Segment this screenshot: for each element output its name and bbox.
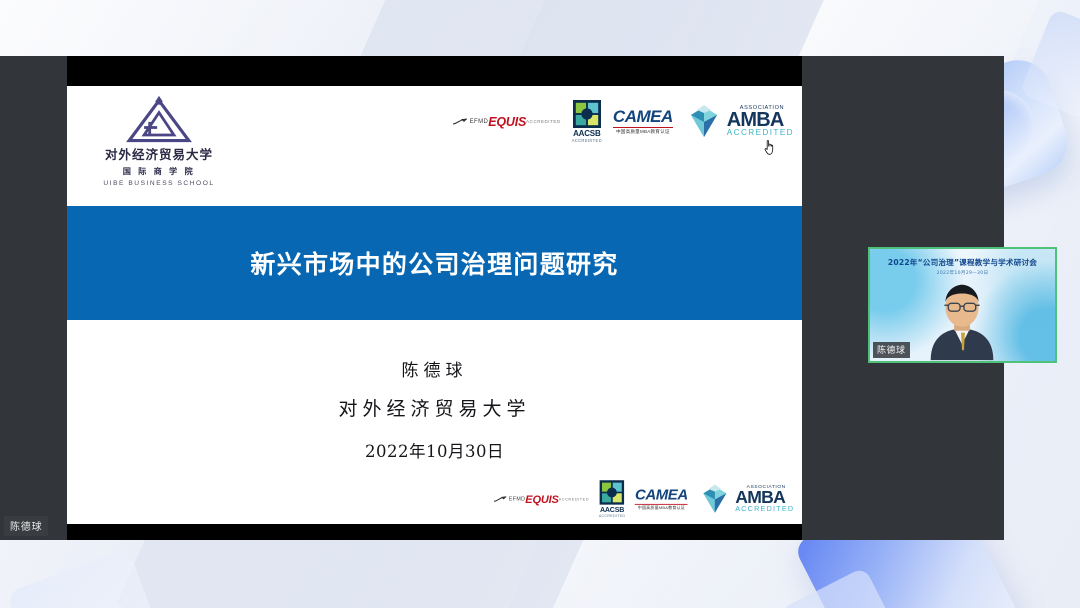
camea-name: CAMEA xyxy=(613,108,673,125)
video-banner-title: 2022年“公司治理”课程教学与学术研讨会 xyxy=(870,257,1055,268)
uibe-english-name: UIBE BUSINESS SCHOOL xyxy=(101,180,217,187)
efmd-swoosh-icon xyxy=(493,496,507,502)
amba-sub: ACCREDITED xyxy=(735,506,794,513)
aacsb-logo: AACSB ACCREDITED xyxy=(572,100,602,143)
equis-name: EQUIS xyxy=(525,494,558,505)
amba-logo: ASSOCIATION AMBA ACCREDITED xyxy=(697,483,794,515)
camea-rule xyxy=(635,504,688,505)
aacsb-mark-icon xyxy=(599,480,624,505)
slide-title: 新兴市场中的公司治理问题研究 xyxy=(250,245,618,281)
share-presenter-name-tag: 陈德球 xyxy=(4,516,48,536)
amba-logo: ASSOCIATION AMBA ACCREDITED xyxy=(684,104,794,140)
aacsb-logo: AACSB ACCREDITED xyxy=(598,480,625,518)
equis-sub: ACCREDITED xyxy=(526,120,561,124)
aacsb-name: AACSB xyxy=(572,129,602,138)
presentation-slide: 对外经济贸易大学 国 际 商 学 院 UIBE BUSINESS SCHOOL xyxy=(67,86,802,524)
aacsb-name: AACSB xyxy=(598,506,625,514)
aacsb-mark-icon xyxy=(573,100,601,128)
aacsb-sub: ACCREDITED xyxy=(572,138,602,143)
camea-sub: 中国高质量MBA教育认证 xyxy=(613,129,673,135)
equis-parent-label: EFMD xyxy=(509,496,525,501)
amba-sub: ACCREDITED xyxy=(727,129,794,137)
equis-sub: ACCREDITED xyxy=(558,498,588,502)
accreditation-logo-row-top: EFMD EQUIS ACCREDITED xyxy=(452,100,794,143)
equis-logo: EFMD EQUIS ACCREDITED xyxy=(452,115,561,129)
equis-logo: EFMD EQUIS ACCREDITED xyxy=(493,493,589,505)
decorative-glass-chip xyxy=(7,548,160,608)
camea-logo: CAMEA 中国高质量MBA教育认证 xyxy=(635,487,688,511)
meeting-window: 对外经济贸易大学 国 际 商 学 院 UIBE BUSINESS SCHOOL xyxy=(0,56,1004,540)
amba-name: AMBA xyxy=(727,111,794,129)
camea-rule xyxy=(613,127,673,128)
uibe-department: 国 际 商 学 院 xyxy=(101,165,217,177)
video-participant-name-tag: 陈德球 xyxy=(873,342,910,358)
camea-name: CAMEA xyxy=(635,487,688,502)
amba-name: AMBA xyxy=(735,489,794,505)
slide-body: 陈德球 对外经济贸易大学 2022年10月30日 xyxy=(67,320,802,524)
uibe-institution-logo: 对外经济贸易大学 国 际 商 学 院 UIBE BUSINESS SCHOOL xyxy=(101,94,217,187)
camea-sub: 中国高质量MBA教育认证 xyxy=(635,506,688,511)
uibe-triangle-mark xyxy=(101,94,217,148)
author-block: 陈德球 对外经济贸易大学 2022年10月30日 xyxy=(67,356,802,462)
amba-gem-icon xyxy=(684,104,724,140)
equis-name: EQUIS xyxy=(488,116,526,129)
slide-title-band: 新兴市场中的公司治理问题研究 xyxy=(67,206,802,320)
slide-header: 对外经济贸易大学 国 际 商 学 院 UIBE BUSINESS SCHOOL xyxy=(67,86,802,206)
efmd-swoosh-icon xyxy=(452,118,468,125)
presentation-date: 2022年10月30日 xyxy=(67,438,802,462)
screen-share-stage[interactable]: 对外经济贸易大学 国 际 商 学 院 UIBE BUSINESS SCHOOL xyxy=(67,56,802,540)
accreditation-logo-row-bottom: EFMD EQUIS ACCREDITED xyxy=(493,480,794,518)
author-organization: 对外经济贸易大学 xyxy=(67,394,802,421)
aacsb-sub: ACCREDITED xyxy=(598,514,625,518)
equis-parent-label: EFMD xyxy=(470,119,489,125)
amba-gem-icon xyxy=(697,483,732,515)
camea-logo: CAMEA 中国高质量MBA教育认证 xyxy=(613,108,673,136)
participant-video-tile[interactable]: 2022年“公司治理”课程教学与学术研讨会 2022年10月29—30日 陈德球 xyxy=(868,247,1057,363)
desktop-background: 对外经济贸易大学 国 际 商 学 院 UIBE BUSINESS SCHOOL xyxy=(0,0,1080,608)
uibe-chinese-name: 对外经济贸易大学 xyxy=(101,149,217,163)
author-name: 陈德球 xyxy=(67,356,802,381)
